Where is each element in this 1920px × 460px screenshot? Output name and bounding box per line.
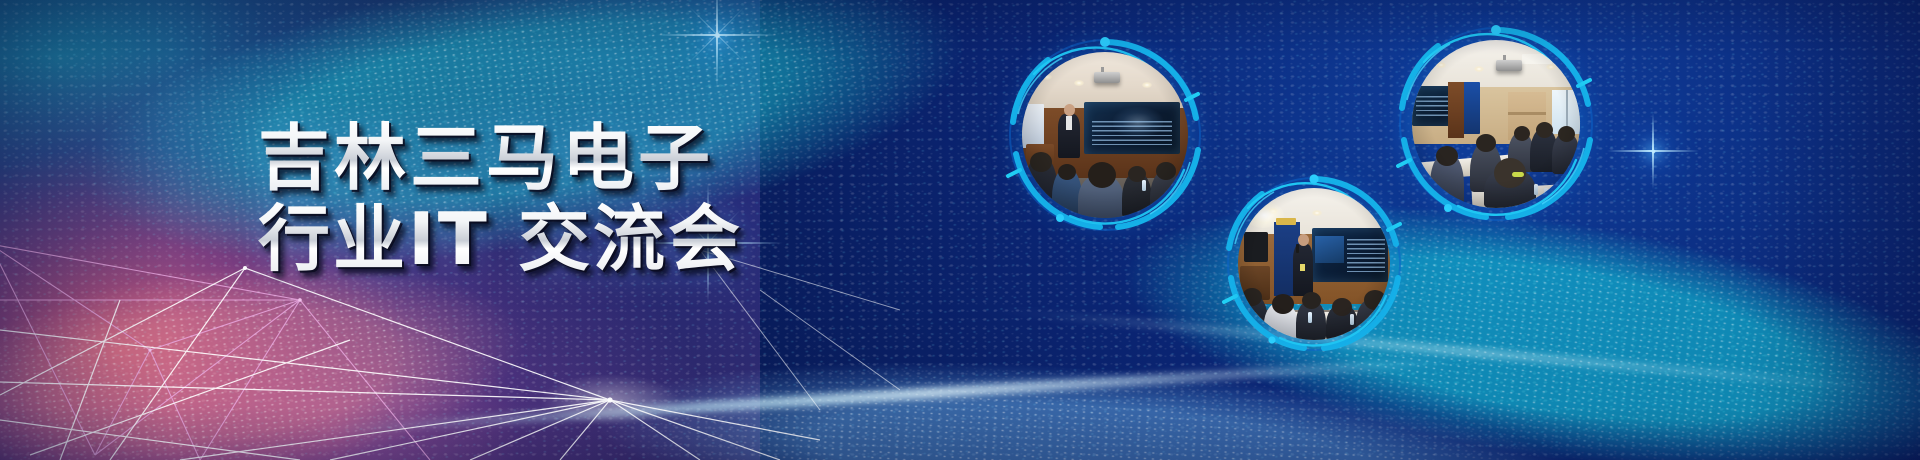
photo-speaker-microphone[interactable]: [1238, 188, 1390, 340]
photo-vignette: [1022, 52, 1188, 218]
title-line-2: 行业IT 交流会: [258, 199, 838, 280]
scene-seminar-attendees: [1412, 40, 1580, 208]
photo-medallion-speaker-microphone[interactable]: [1218, 168, 1410, 360]
photo-medallion-seminar-attendees[interactable]: [1390, 18, 1602, 230]
network-lines-lower: [0, 250, 900, 460]
scene-conference-presentation: [1022, 52, 1188, 218]
fruit-plate: [1552, 192, 1566, 198]
banner-title: 吉林三马电子 行业IT 交流会: [258, 118, 838, 279]
photo-vignette: [1238, 188, 1390, 340]
photo-seminar-attendees[interactable]: [1412, 40, 1580, 208]
photo-medallion-conference-presentation[interactable]: [1000, 30, 1210, 240]
photo-vignette: [1412, 40, 1580, 208]
event-banner: 吉林三马电子 行业IT 交流会: [0, 0, 1920, 460]
photo-conference-presentation[interactable]: [1022, 52, 1188, 218]
scene-speaker-microphone: [1238, 188, 1390, 340]
title-line-1: 吉林三马电子: [258, 118, 838, 199]
